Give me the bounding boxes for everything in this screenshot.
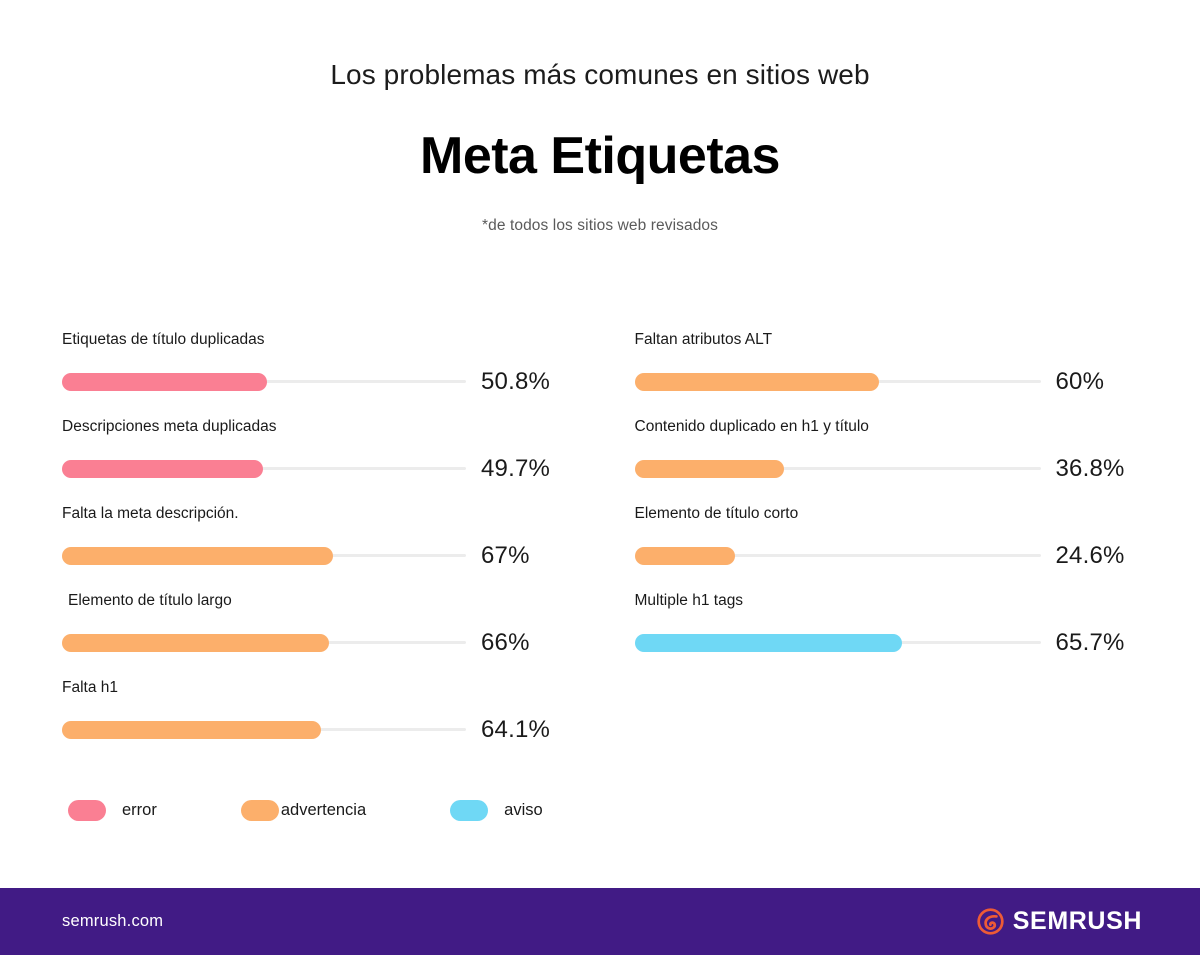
bar-fill bbox=[62, 373, 267, 391]
semrush-logo: SEMRUSH bbox=[977, 908, 1142, 935]
footer-url[interactable]: semrush.com bbox=[62, 912, 163, 931]
header-subnote: *de todos los sitios web revisados bbox=[0, 217, 1200, 235]
bar-item: Etiquetas de título duplicadas50.8% bbox=[62, 330, 628, 417]
bar-fill bbox=[62, 460, 263, 478]
bar-row: 67% bbox=[62, 542, 628, 570]
legend-item-aviso: aviso bbox=[450, 800, 543, 821]
bar-row: 36.8% bbox=[635, 455, 1200, 483]
bar-chart: Etiquetas de título duplicadas50.8%Descr… bbox=[0, 330, 1200, 765]
bar-item: Descripciones meta duplicadas49.7% bbox=[62, 417, 628, 504]
bar-item: Elemento de título largo66% bbox=[62, 591, 628, 678]
bar-item: Contenido duplicado en h1 y título36.8% bbox=[635, 417, 1200, 504]
bar-value: 24.6% bbox=[1056, 542, 1125, 570]
bar-label: Descripciones meta duplicadas bbox=[62, 417, 628, 437]
bar-value: 67% bbox=[481, 542, 530, 570]
legend-swatch bbox=[241, 800, 279, 821]
bar-label: Elemento de título corto bbox=[635, 504, 1200, 524]
legend-label: advertencia bbox=[281, 801, 366, 820]
bar-row: 24.6% bbox=[635, 542, 1200, 570]
legend-item-error: error bbox=[68, 800, 157, 821]
bar-track bbox=[62, 380, 466, 383]
bar-label: Elemento de título largo bbox=[62, 591, 628, 611]
bar-track bbox=[635, 641, 1041, 644]
bar-track bbox=[635, 467, 1041, 470]
bar-value: 36.8% bbox=[1056, 455, 1125, 483]
bar-value: 65.7% bbox=[1056, 629, 1125, 657]
bar-track bbox=[62, 728, 466, 731]
bar-label: Faltan atributos ALT bbox=[635, 330, 1200, 350]
bar-label: Etiquetas de título duplicadas bbox=[62, 330, 628, 350]
bar-item: Falta h164.1% bbox=[62, 678, 628, 765]
infographic-header: Los problemas más comunes en sitios web … bbox=[0, 0, 1200, 235]
bar-item: Multiple h1 tags65.7% bbox=[635, 591, 1200, 678]
bar-track bbox=[62, 467, 466, 470]
footer-bar: semrush.com SEMRUSH bbox=[0, 888, 1200, 955]
bar-track bbox=[635, 380, 1041, 383]
bar-item: Elemento de título corto24.6% bbox=[635, 504, 1200, 591]
bar-row: 50.8% bbox=[62, 368, 628, 396]
bar-row: 64.1% bbox=[62, 716, 628, 744]
bar-label: Falta h1 bbox=[62, 678, 628, 698]
bar-fill bbox=[635, 634, 902, 652]
legend-item-advertencia: advertencia bbox=[241, 800, 366, 821]
bar-track bbox=[62, 554, 466, 557]
bar-track bbox=[62, 641, 466, 644]
chart-legend: erroradvertenciaaviso bbox=[68, 800, 543, 821]
chart-columns: Etiquetas de título duplicadas50.8%Descr… bbox=[0, 330, 1200, 765]
bar-fill bbox=[635, 460, 784, 478]
chart-column-left: Etiquetas de título duplicadas50.8%Descr… bbox=[0, 330, 628, 765]
bar-row: 49.7% bbox=[62, 455, 628, 483]
legend-label: aviso bbox=[504, 801, 543, 820]
legend-swatch bbox=[450, 800, 488, 821]
bar-value: 66% bbox=[481, 629, 530, 657]
bar-value: 50.8% bbox=[481, 368, 550, 396]
bar-fill bbox=[62, 721, 321, 739]
bar-track bbox=[635, 554, 1041, 557]
bar-value: 64.1% bbox=[481, 716, 550, 744]
legend-swatch bbox=[68, 800, 106, 821]
page-title: Meta Etiquetas bbox=[0, 128, 1200, 185]
semrush-wordmark: SEMRUSH bbox=[1013, 909, 1142, 934]
bar-label: Contenido duplicado en h1 y título bbox=[635, 417, 1200, 437]
bar-label: Falta la meta descripción. bbox=[62, 504, 628, 524]
bar-fill bbox=[635, 547, 735, 565]
bar-label: Multiple h1 tags bbox=[635, 591, 1200, 611]
bar-item: Faltan atributos ALT60% bbox=[635, 330, 1200, 417]
legend-label: error bbox=[122, 801, 157, 820]
header-eyebrow: Los problemas más comunes en sitios web bbox=[0, 58, 1200, 92]
bar-fill bbox=[635, 373, 879, 391]
bar-item: Falta la meta descripción.67% bbox=[62, 504, 628, 591]
semrush-swirl-icon bbox=[977, 908, 1004, 935]
bar-row: 66% bbox=[62, 629, 628, 657]
bar-fill bbox=[62, 547, 333, 565]
bar-value: 60% bbox=[1056, 368, 1105, 396]
bar-row: 65.7% bbox=[635, 629, 1200, 657]
bar-row: 60% bbox=[635, 368, 1200, 396]
bar-value: 49.7% bbox=[481, 455, 550, 483]
bar-fill bbox=[62, 634, 329, 652]
